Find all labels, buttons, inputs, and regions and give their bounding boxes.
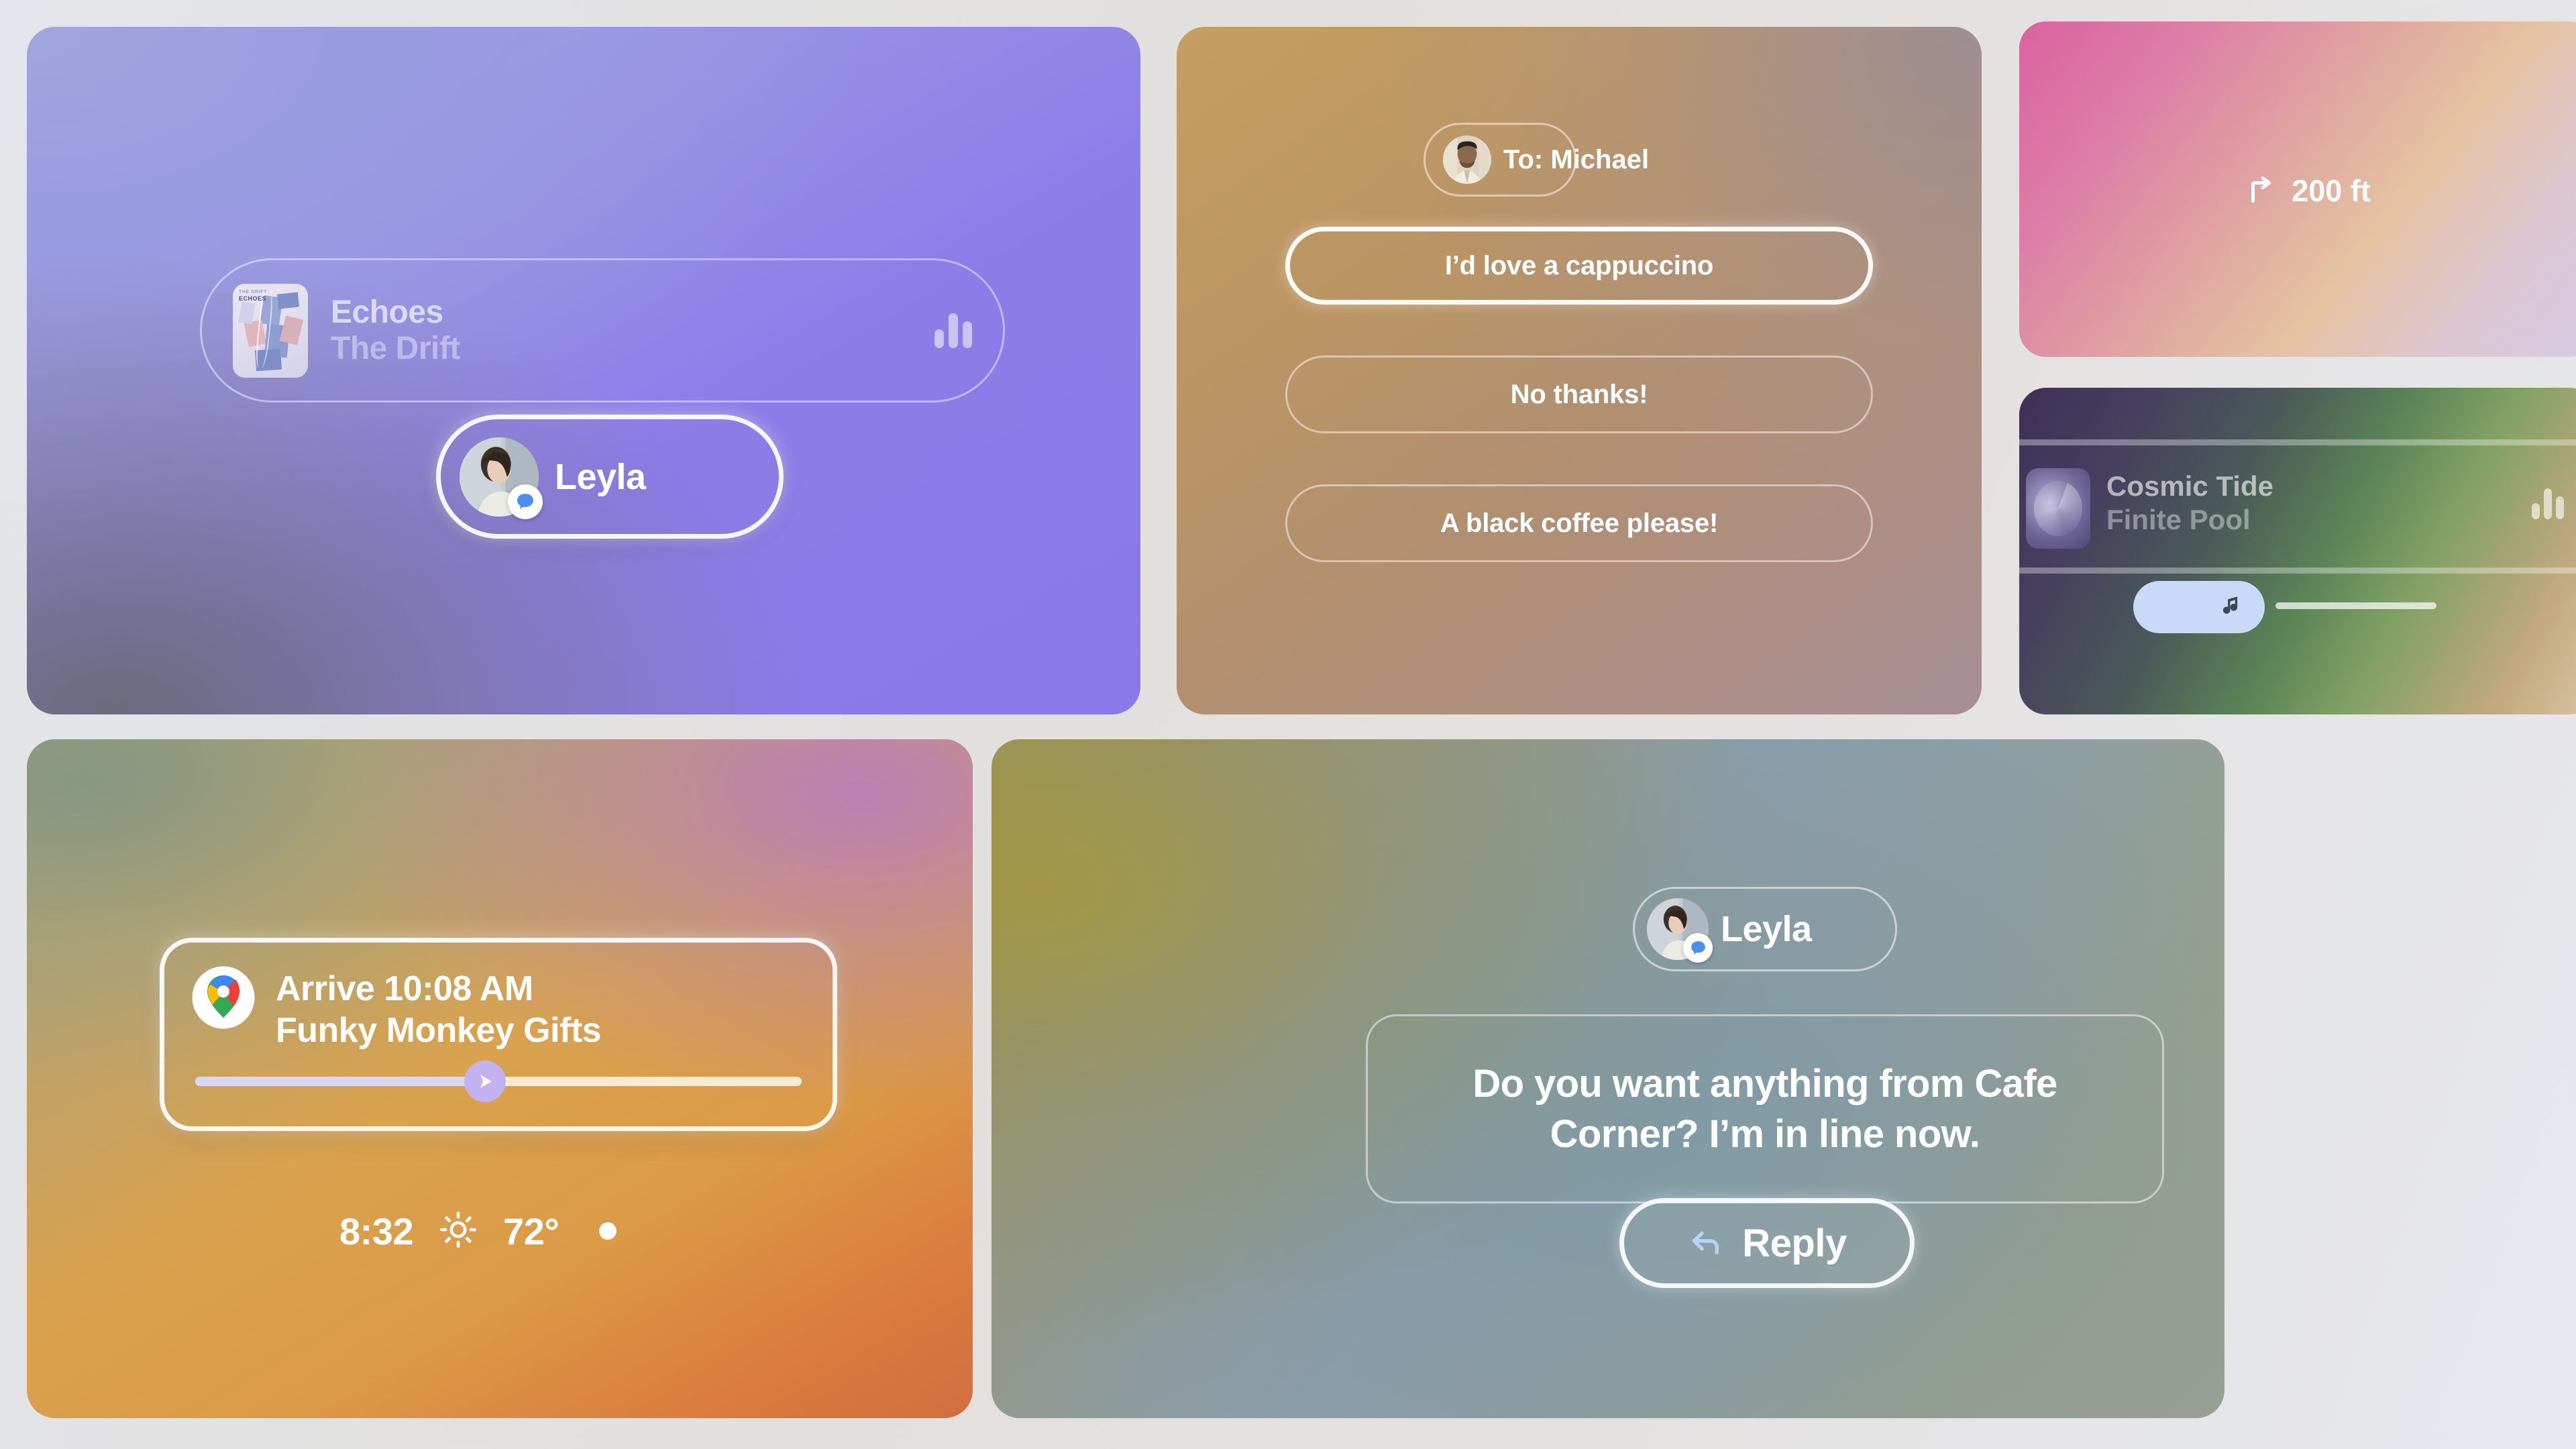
arrive-card[interactable]: Arrive 10:08 AM Funky Monkey Gifts [160,938,837,1131]
arrive-eta: Arrive 10:08 AM [276,968,601,1010]
album-art-label: THE DRIFT ECHOES [239,290,267,303]
cosmic-divider-top [2019,439,2576,445]
album-art-cosmic [2026,468,2090,549]
reply-button[interactable]: Reply [1619,1198,1915,1288]
navigation-distance-text: 200 ft [2292,174,2371,209]
messages-badge-icon [508,484,543,519]
contact-chip-leyla[interactable]: Leyla [436,415,784,539]
music-note-icon [2219,592,2247,623]
album-art-line2: ECHOES [239,295,267,303]
arrive-header: Arrive 10:08 AM Funky Monkey Gifts [191,965,806,1052]
equalizer-icon [2532,488,2564,519]
cosmic-track-meta: Cosmic Tide Finite Pool [2106,470,2273,536]
avatar-wrap [460,437,539,517]
status-row: 8:32 72° [160,1201,837,1261]
message-text: Do you want anything from Cafe Corner? I… [1404,1059,2126,1160]
status-time: 8:32 [339,1210,413,1253]
reply-option-cappuccino[interactable]: I’d love a cappuccino [1285,227,1873,305]
panel-now-playing-cosmic [2019,388,2576,714]
reply-arrow-icon [1687,1223,1725,1264]
navigation-distance-row: 200 ft [2019,171,2576,211]
avatar-wrap [1647,898,1709,960]
arrive-destination: Funky Monkey Gifts [276,1010,601,1051]
status-temperature: 72° [503,1210,559,1253]
dot-icon [599,1222,616,1240]
now-playing-card[interactable]: THE DRIFT ECHOES Echoes The Drift [200,258,1005,402]
equalizer-icon [934,313,972,348]
cosmic-divider-middle [2019,568,2576,574]
sender-chip-name: Leyla [1721,908,1812,950]
sender-chip-leyla[interactable]: Leyla [1633,887,1897,971]
reply-option-no-thanks[interactable]: No thanks! [1285,356,1873,433]
contact-chip-name: Leyla [555,456,646,498]
avatar [1443,136,1491,184]
cosmic-track-artist: Finite Pool [2106,503,2273,537]
cosmic-progress-track[interactable] [2275,602,2436,609]
music-note-pill[interactable] [2133,581,2265,633]
track-artist: The Drift [331,331,460,367]
route-progress-fill [195,1077,486,1086]
reply-option-black-coffee[interactable]: A black coffee please! [1285,484,1873,562]
cosmic-track-title: Cosmic Tide [2106,470,2273,503]
reply-option-label: A black coffee please! [1440,508,1718,539]
google-maps-pin-icon [191,965,256,1030]
album-art-line1: THE DRIFT [239,290,267,296]
track-meta: Echoes The Drift [331,294,460,367]
album-art: THE DRIFT ECHOES [233,284,308,378]
sun-icon [439,1210,478,1252]
turn-right-icon [2245,173,2278,210]
reply-option-label: No thanks! [1511,380,1648,410]
panel-now-playing-leyla: THE DRIFT ECHOES Echoes The Drift [27,27,1140,714]
reply-option-label: I’d love a cappuccino [1445,251,1713,281]
reply-button-label: Reply [1742,1221,1846,1266]
message-bubble[interactable]: Do you want anything from Cafe Corner? I… [1366,1014,2164,1203]
track-title: Echoes [331,294,460,331]
recipient-chip-michael[interactable]: To: Michael [1424,123,1576,197]
arrive-text-lines: Arrive 10:08 AM Funky Monkey Gifts [276,965,601,1052]
recipient-chip-label: To: Michael [1503,145,1649,175]
navigation-arrow-icon[interactable] [464,1061,506,1102]
messages-badge-icon [1683,933,1713,963]
